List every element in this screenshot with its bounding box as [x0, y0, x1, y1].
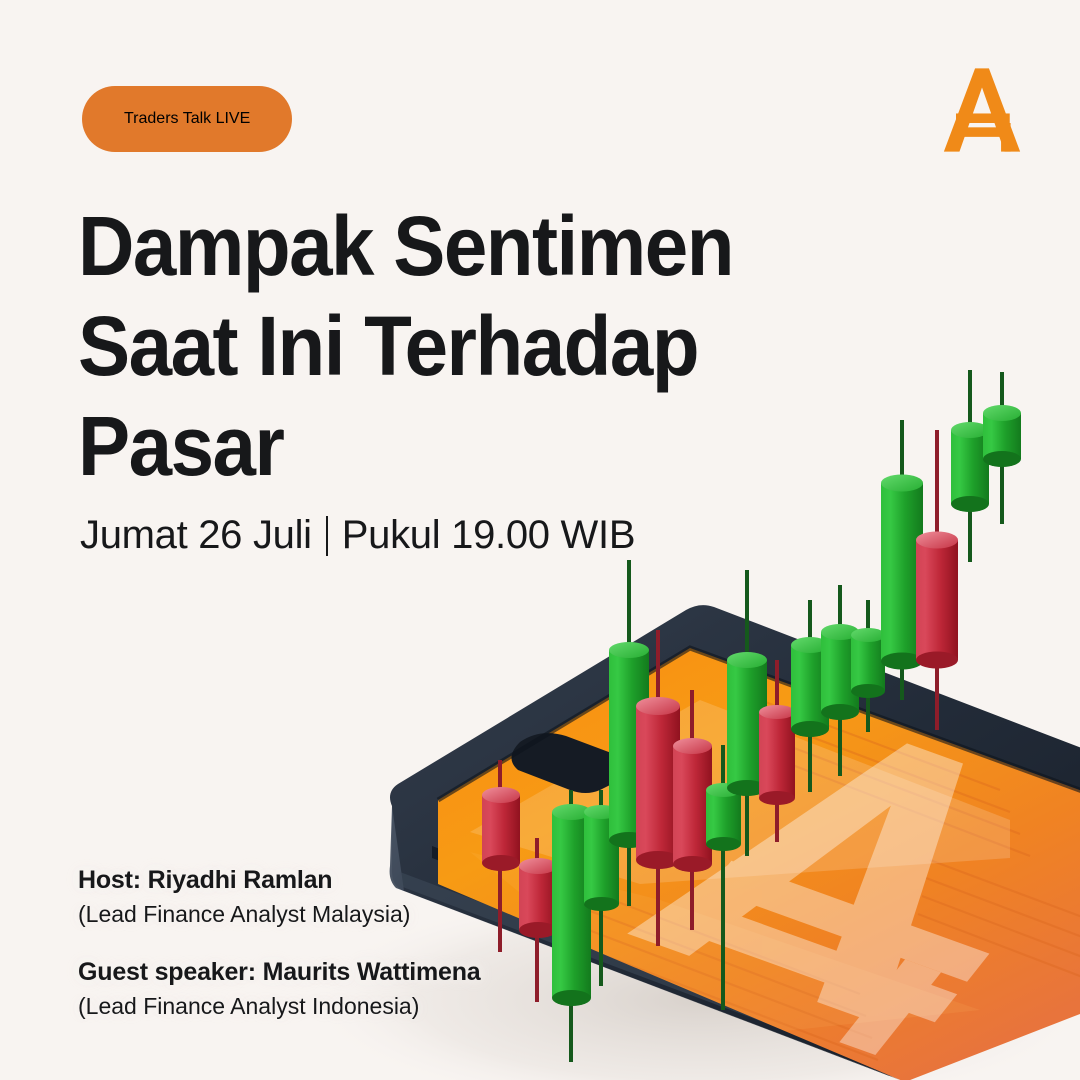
- austral-a-logo-icon: [930, 58, 1034, 162]
- guest-block: Guest speaker: Maurits Wattimena (Lead F…: [78, 958, 481, 1020]
- promo-poster: Traders Talk LIVE Dampak Sentimen Saat I…: [0, 0, 1080, 1080]
- candle: [727, 570, 767, 856]
- candle: [821, 585, 859, 776]
- guest-role: (Lead Finance Analyst Indonesia): [78, 993, 481, 1020]
- candle: [881, 420, 923, 700]
- candle: [673, 690, 712, 930]
- live-badge-label: Traders Talk LIVE: [124, 110, 250, 128]
- candle: [851, 600, 885, 732]
- candle: [706, 745, 741, 1010]
- headline-line-2: Saat Ini Terhadap: [78, 296, 748, 396]
- candle: [584, 790, 619, 986]
- candle: [916, 430, 958, 730]
- schedule-separator: [326, 516, 328, 556]
- host-role: (Lead Finance Analyst Malaysia): [78, 901, 481, 928]
- schedule-time: Pukul 19.00 WIB: [342, 513, 635, 558]
- candle: [552, 790, 591, 1062]
- candle: [609, 560, 649, 906]
- page-title: Dampak Sentimen Saat Ini Terhadap Pasar: [78, 196, 748, 496]
- schedule-date: Jumat 26 Juli: [80, 513, 312, 558]
- smartphone-device: [390, 605, 1080, 1080]
- screen-watermark-logo: [607, 707, 1080, 1064]
- host-name: Host: Riyadhi Ramlan: [78, 866, 481, 895]
- candle: [791, 600, 829, 792]
- host-block: Host: Riyadhi Ramlan (Lead Finance Analy…: [78, 866, 481, 928]
- guest-name: Guest speaker: Maurits Wattimena: [78, 958, 481, 987]
- headline-line-1: Dampak Sentimen: [78, 196, 748, 296]
- candle: [759, 660, 795, 842]
- candle: [951, 370, 989, 562]
- candle: [636, 630, 680, 946]
- headline-line-3: Pasar: [78, 396, 748, 496]
- candle: [983, 372, 1021, 524]
- candle: [482, 760, 520, 952]
- candle: [519, 838, 557, 1002]
- live-badge[interactable]: Traders Talk LIVE: [82, 86, 292, 152]
- speaker-list: Host: Riyadhi Ramlan (Lead Finance Analy…: [78, 866, 481, 1020]
- schedule-line: Jumat 26 Juli Pukul 19.00 WIB: [80, 513, 635, 558]
